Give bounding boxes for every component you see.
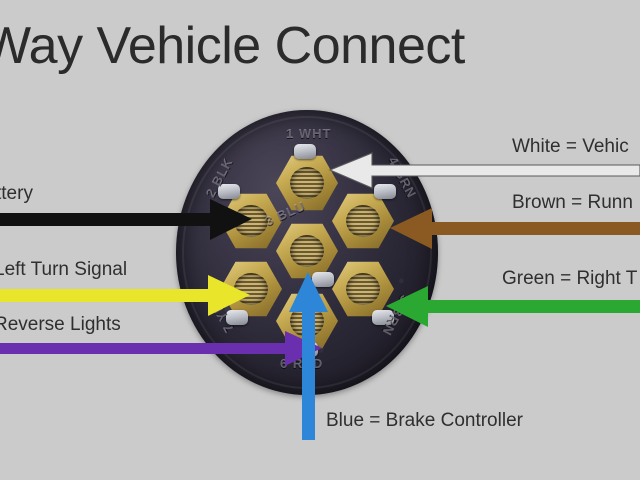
terminal-bore — [346, 205, 380, 237]
terminal-bore — [290, 235, 324, 267]
terminal-lower-right — [332, 260, 394, 318]
terminal-bore — [234, 273, 268, 305]
connector-diagram: Way Vehicle Connect — [0, 0, 640, 480]
pin-marking-6-red: 6 RED — [280, 356, 323, 371]
page-title: Way Vehicle Connect — [0, 14, 640, 78]
screw-head — [296, 342, 318, 357]
callout-label-ground: White = Vehic — [512, 136, 629, 158]
terminal-bore — [290, 167, 324, 199]
pin-marking-1-wht: 1 WHT — [286, 126, 331, 141]
terminal-bore — [234, 205, 268, 237]
screw-head — [312, 272, 334, 287]
callout-label-brake: Blue = Brake Controller — [326, 410, 523, 432]
terminal-bore — [290, 305, 324, 337]
terminal-upper-right — [332, 192, 394, 250]
callout-label-right-turn: Green = Right T — [502, 268, 637, 290]
terminal-bore — [346, 273, 380, 305]
terminal-bottom — [276, 292, 338, 350]
terminal-lower-left — [220, 260, 282, 318]
callout-label-running: Brown = Runn — [512, 192, 633, 214]
terminal-center — [276, 222, 338, 280]
screw-head — [374, 184, 396, 199]
terminal-top — [276, 154, 338, 212]
screw-head — [294, 144, 316, 159]
callout-label-battery: ttery — [0, 183, 33, 205]
callout-label-left-turn: Left Turn Signal — [0, 259, 127, 281]
callout-label-reverse: Reverse Lights — [0, 314, 121, 336]
vehicle-connector-image: 1 WHT 2 BLK 3 BLU 4 GRN 5 BRN 6 RED 7 YE… — [176, 110, 438, 395]
